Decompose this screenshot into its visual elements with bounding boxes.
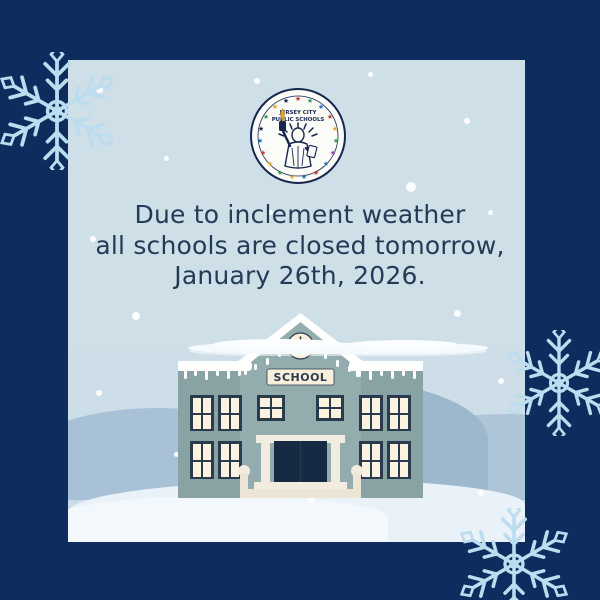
snow-ground-front	[68, 496, 388, 542]
svg-text:★: ★	[318, 103, 324, 111]
snow-dot	[454, 310, 461, 317]
svg-text:★: ★	[263, 113, 269, 121]
svg-text:SCHOOL: SCHOOL	[274, 371, 328, 384]
snow-dot	[164, 156, 169, 161]
announcement-line-3: January 26th, 2026.	[0, 261, 600, 292]
snow-dot	[254, 78, 260, 84]
snow-dot	[368, 72, 373, 77]
snowflake-bottom-right	[458, 508, 570, 600]
svg-text:★: ★	[323, 160, 329, 168]
snowflake-right	[506, 330, 600, 436]
svg-text:★: ★	[313, 169, 319, 177]
svg-text:★: ★	[283, 97, 289, 105]
announcement-text: Due to inclement weather all schools are…	[0, 200, 600, 292]
svg-text:★: ★	[295, 95, 301, 103]
svg-text:★: ★	[260, 149, 266, 157]
svg-text:★: ★	[301, 173, 307, 181]
snow-dot	[96, 390, 102, 396]
snowflake-left	[0, 52, 116, 170]
svg-text:★: ★	[332, 125, 338, 133]
snow-dot	[406, 182, 416, 192]
svg-text:★: ★	[267, 160, 273, 168]
svg-text:★: ★	[307, 97, 313, 105]
snow-drift-band	[188, 343, 488, 354]
svg-text:★: ★	[272, 103, 278, 111]
svg-text:★: ★	[258, 125, 264, 133]
svg-text:★: ★	[277, 169, 283, 177]
svg-text:★: ★	[257, 137, 263, 145]
announcement-line-1: Due to inclement weather	[0, 200, 600, 231]
svg-text:★: ★	[327, 113, 333, 121]
snow-dot	[464, 118, 470, 124]
svg-text:★: ★	[289, 173, 295, 181]
announcement-line-2: all schools are closed tomorrow,	[0, 231, 600, 262]
snow-dot	[498, 378, 504, 384]
svg-text:★: ★	[333, 137, 339, 145]
snow-day-announcement-poster: SCHOOL	[0, 0, 600, 600]
svg-text:★: ★	[330, 149, 336, 157]
snow-dot	[132, 312, 140, 320]
snow-dot	[478, 490, 484, 496]
jersey-city-public-schools-seal: JERSEY CITY PUBLIC SCHOOLS	[248, 86, 348, 186]
